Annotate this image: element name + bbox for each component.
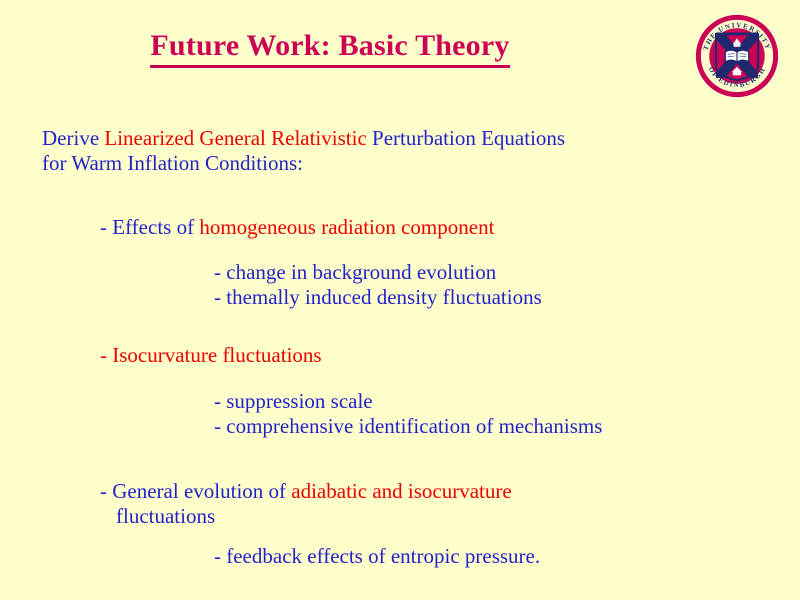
bullet-effects-prefix: - Effects of bbox=[100, 215, 199, 239]
sub-bullet-suppression-scale: - suppression scale bbox=[214, 389, 373, 414]
intro-text-linearized: Linearized General Relativistic bbox=[104, 126, 366, 150]
bullet-isocurvature: - Isocurvature fluctuations bbox=[100, 343, 322, 368]
bullet-effects: - Effects of homogeneous radiation compo… bbox=[100, 215, 494, 240]
slide-canvas: Future Work: Basic Theory bbox=[0, 0, 800, 600]
bullet-general-evolution-wrap: fluctuations bbox=[116, 504, 215, 529]
bullet-effects-highlight: homogeneous radiation component bbox=[199, 215, 494, 239]
slide-body: Derive Linearized General Relativistic P… bbox=[0, 0, 800, 600]
sub-bullet-background-evolution: - change in background evolution bbox=[214, 260, 496, 285]
intro-line-2: for Warm Inflation Conditions: bbox=[42, 151, 303, 176]
intro-text-perturbation: Perturbation Equations bbox=[367, 126, 565, 150]
sub-bullet-identification-mechanisms: - comprehensive identification of mechan… bbox=[214, 414, 602, 439]
intro-line-1: Derive Linearized General Relativistic P… bbox=[42, 126, 565, 151]
bullet-general-prefix: - General evolution of bbox=[100, 479, 291, 503]
sub-bullet-density-fluctuations: - themally induced density fluctuations bbox=[214, 285, 542, 310]
bullet-general-evolution: - General evolution of adiabatic and iso… bbox=[100, 479, 512, 504]
bullet-general-highlight: adiabatic and isocurvature bbox=[291, 479, 511, 503]
intro-text-derive: Derive bbox=[42, 126, 104, 150]
sub-bullet-feedback-entropic-pressure: - feedback effects of entropic pressure. bbox=[214, 544, 540, 569]
